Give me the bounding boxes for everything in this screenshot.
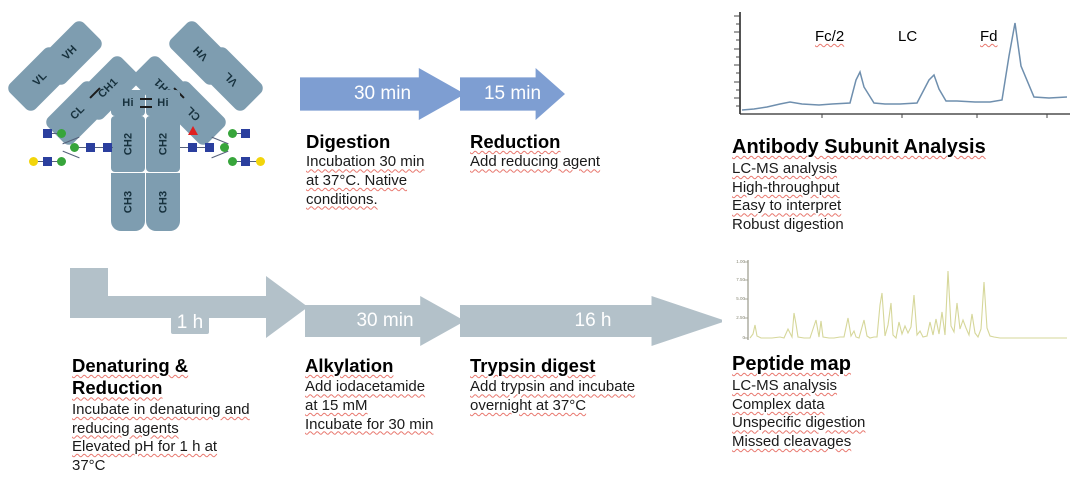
glycan-glcnac: [188, 143, 197, 152]
step-title: Trypsin digest: [470, 355, 700, 376]
result-title: Antibody Subunit Analysis: [732, 136, 1062, 159]
step-line: Add trypsin and incubate: [470, 378, 700, 397]
peak-label-lc: LC: [898, 28, 917, 45]
subunit-chromatogram: Fc/2 LC Fd: [722, 4, 1072, 122]
step-line: Elevated pH for 1 h at: [72, 438, 287, 457]
arrow-denaturing-reduction-1h[interactable]: [70, 268, 310, 346]
result-line: Missed cleavages: [732, 433, 1052, 452]
svg-text:2.50: 2.50: [736, 315, 745, 320]
step-line: Incubate for 30 min: [305, 416, 485, 435]
glycan-glcnac: [205, 143, 214, 152]
result-line: High-throughput: [732, 179, 1062, 198]
domain-label: CH3: [122, 191, 134, 214]
domain-ch3-right: CH3: [146, 173, 180, 231]
result-antibody-subunit-analysis: Antibody Subunit Analysis LC-MS analysis…: [732, 136, 1062, 235]
glycan-glcnac: [241, 129, 250, 138]
glycan-glcnac: [43, 157, 52, 166]
step-title-line: Denaturing &: [72, 355, 287, 376]
svg-text:5.00: 5.00: [736, 296, 745, 301]
glycan-mannose: [220, 143, 229, 152]
arrow-label: 30 min: [356, 310, 413, 332]
arrow-label: 30 min: [354, 83, 411, 105]
step-reduction: Reduction Add reducing agent: [470, 131, 670, 172]
hinge-disulfide-upper: [140, 98, 152, 100]
domain-label: CH3: [157, 191, 169, 214]
step-line: overnight at 37°C: [470, 397, 700, 416]
arrow-label: 16 h: [575, 310, 612, 332]
step-line: reducing agents: [72, 420, 287, 439]
step-alkylation: Alkylation Add iodacetamide at 15 mM Inc…: [305, 355, 485, 434]
domain-label: CH2: [122, 133, 134, 156]
svg-text:7.50: 7.50: [736, 277, 745, 282]
result-line: Easy to interpret: [732, 197, 1062, 216]
arrow-label: 15 min: [484, 83, 541, 105]
domain-label: Hi: [157, 97, 168, 109]
result-line: LC-MS analysis: [732, 160, 1062, 179]
antibody-schematic: VL CL VH CH1 VH CH1 VL CL Hi Hi CH2 CH2 …: [0, 0, 290, 250]
step-title: Alkylation: [305, 355, 485, 376]
step-line: at 37°C. Native: [306, 172, 456, 191]
peptide-map-svg: 1.00 7.50 5.00 2.50 0: [722, 256, 1072, 348]
domain-ch2-left: CH2: [111, 116, 145, 172]
peak-label-fc2: Fc/2: [815, 28, 844, 45]
glycan-fucose: [188, 126, 198, 135]
domain-hinge-left: Hi: [111, 90, 145, 116]
step-title: Digestion: [306, 131, 456, 152]
glycan-glcnac: [43, 129, 52, 138]
result-line: LC-MS analysis: [732, 377, 1052, 396]
svg-text:0: 0: [742, 335, 745, 340]
arrow-trypsin-digest-16h[interactable]: 16 h: [460, 296, 726, 346]
domain-ch3-left: CH3: [111, 173, 145, 231]
domain-label: Hi: [122, 97, 133, 109]
subunit-chromatogram-svg: [722, 4, 1072, 122]
glycan-glcnac: [241, 157, 250, 166]
domain-label: CH2: [157, 133, 169, 156]
glycan-glcnac: [103, 143, 112, 152]
glycan-glcnac: [86, 143, 95, 152]
step-line: Add reducing agent: [470, 153, 670, 172]
step-trypsin-digest: Trypsin digest Add trypsin and incubate …: [470, 355, 700, 416]
arrow-digestion-30min[interactable]: 30 min: [300, 68, 465, 120]
domain-label: VH: [60, 43, 80, 63]
domain-ch2-right: CH2: [146, 116, 180, 172]
step-line: Incubation 30 min: [306, 153, 456, 172]
domain-label: VL: [222, 70, 241, 89]
domain-hinge-right: Hi: [146, 90, 180, 116]
step-line: conditions.: [306, 191, 456, 210]
step-title-line: Reduction: [72, 377, 287, 398]
glycan-mannose: [70, 143, 79, 152]
arrow-alkylation-30min[interactable]: 30 min: [305, 296, 465, 346]
step-denaturing-reduction: Denaturing & Reduction Incubate in denat…: [72, 355, 287, 475]
step-line: at 15 mM: [305, 397, 485, 416]
glycan-mannose: [57, 157, 66, 166]
step-line: 37°C: [72, 457, 287, 476]
hinge-disulfide-lower: [140, 106, 152, 108]
step-title: Reduction: [470, 131, 670, 152]
peak-label-fd: Fd: [980, 28, 998, 45]
result-line: Robust digestion: [732, 216, 1062, 235]
glycan-mannose: [57, 129, 66, 138]
result-peptide-map: Peptide map LC-MS analysis Complex data …: [732, 353, 1052, 452]
svg-text:1.00: 1.00: [736, 259, 745, 264]
result-line: Unspecific digestion: [732, 414, 1052, 433]
glycan-galactose: [29, 157, 38, 166]
glycan-galactose: [256, 157, 265, 166]
result-title: Peptide map: [732, 353, 1052, 376]
step-line: Add iodacetamide: [305, 378, 485, 397]
glycan-bond: [62, 151, 79, 159]
step-digestion: Digestion Incubation 30 min at 37°C. Nat…: [306, 131, 456, 209]
step-line: Incubate in denaturing and: [72, 401, 287, 420]
glycan-mannose: [228, 129, 237, 138]
arrow-reduction-15min[interactable]: 15 min: [460, 68, 565, 120]
glycan-mannose: [228, 157, 237, 166]
peptide-map-chromatogram: 1.00 7.50 5.00 2.50 0: [722, 256, 1072, 348]
result-line: Complex data: [732, 396, 1052, 415]
domain-label: CL: [184, 103, 203, 122]
